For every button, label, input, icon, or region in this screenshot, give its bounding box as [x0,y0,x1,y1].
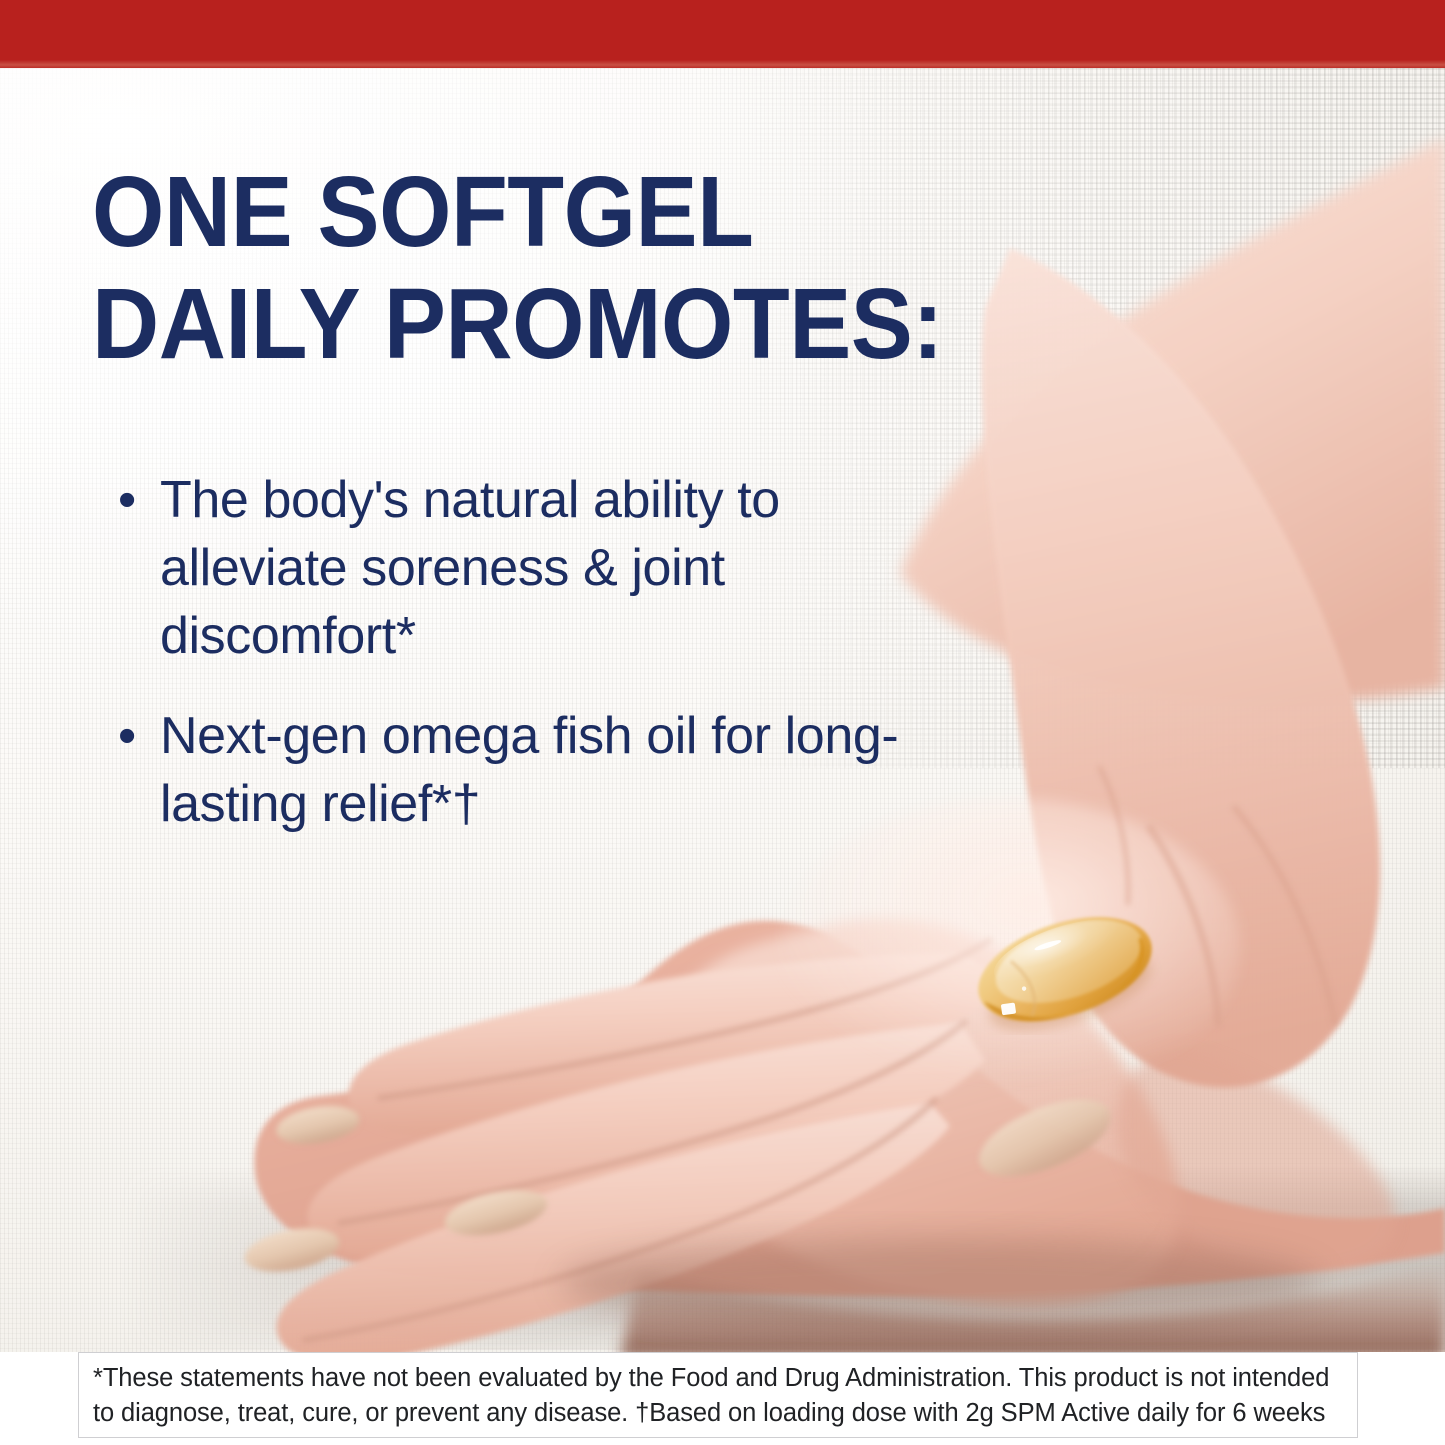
bullet-marker-icon: • [110,702,160,770]
disclaimer-box: *These statements have not been evaluate… [78,1352,1358,1438]
product-marketing-image: ONE SOFTGEL DAILY PROMOTES: • The body's… [0,0,1445,1445]
page-title: ONE SOFTGEL DAILY PROMOTES: [92,156,1171,380]
brand-accent-bar [0,0,1445,68]
disclaimer-text: *These statements have not been evaluate… [93,1361,1345,1431]
benefit-text-soreness: The body's natural ability to alleviate … [160,466,910,670]
bullet-marker-icon: • [110,466,160,534]
list-item: • Next-gen omega fish oil for long-lasti… [110,702,910,838]
benefits-list: • The body's natural ability to alleviat… [110,466,910,870]
list-item: • The body's natural ability to alleviat… [110,466,910,670]
benefit-text-omega: Next-gen omega fish oil for long-lasting… [160,702,910,838]
